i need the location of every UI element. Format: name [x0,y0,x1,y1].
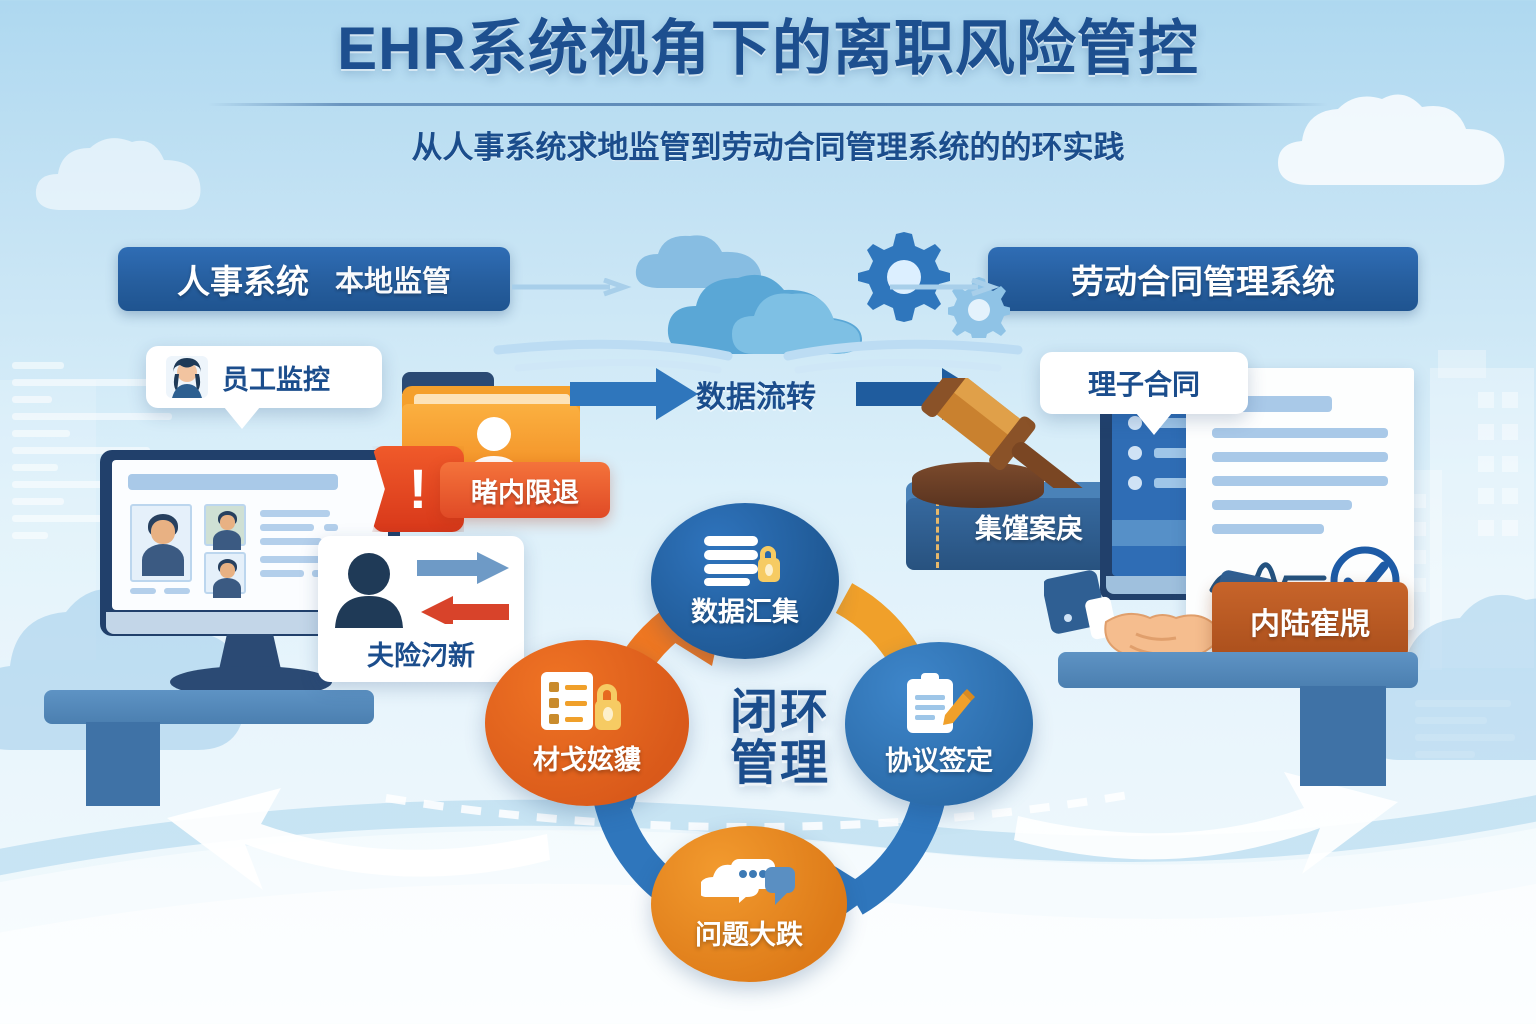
cycle-node-left-label: 材戈妶貗 [533,738,641,777]
cycle-center-line2: 管理 [690,739,870,790]
cycle-node-top[interactable]: 数据汇集 [651,503,839,659]
badge-alert[interactable]: 睹内限退 [440,462,610,518]
cycle-node-bottom[interactable]: 问题大跌 [651,826,847,982]
callout-risk-label: 夫险汈新 [367,634,475,673]
cycle-node-top-label: 数据汇集 [691,590,799,629]
page-title: EHR系统视角下的离职风险管控 [0,0,1536,87]
badge-alert-label: 睹内限退 [471,471,579,510]
gavel-label-text: 集馑案戾 [975,507,1083,546]
flow-label: 数据流转 [666,372,846,416]
transfer-arrows-icon [415,552,511,624]
panel-right-title: 劳动合同管理系统 [1071,255,1335,303]
thin-arrow-left-to-cloud [512,278,632,298]
panel-header-left: 人事系统 本地监管 [118,247,510,311]
panel-header-right: 劳动合同管理系统 [988,247,1418,311]
cycle-node-right[interactable]: 协议签定 [845,642,1033,806]
badge-compliance[interactable]: 内陆寉覑 [1212,582,1408,660]
title-divider [208,103,1328,106]
badge-compliance-label: 内陆寉覑 [1250,599,1370,643]
employee-avatar-icon [166,356,208,398]
panel-left-title: 人事系统 [177,255,309,303]
cycle-node-right-label: 协议签定 [885,739,993,778]
infographic-canvas: EHR系统视角下的离职风险管控 从人事系统求地监管到劳动合同管理系统的的环实践 … [0,0,1536,1024]
person-silhouette-icon [331,548,407,628]
callout-contract[interactable]: 理子合同 [1040,352,1248,414]
panel-left-subtitle: 本地监管 [335,258,451,300]
callout-contract-label: 理子合同 [1088,363,1200,403]
clipboard-pen-icon [901,671,977,735]
database-lock-icon [702,534,788,586]
chat-cloud-icon [701,857,797,909]
checklist-lock-icon [539,670,635,734]
cycle-node-bottom-label: 问题大跌 [695,913,803,952]
callout-employee-monitoring[interactable]: 员工监控 [146,346,382,408]
cycle-node-left[interactable]: 材戈妶貗 [485,640,689,806]
callout-employee-label: 员工监控 [222,358,330,397]
cloud-decor-top-left [30,130,230,220]
cloud-decor-top-right [1270,85,1530,195]
cycle-center-text: 闭环 管理 [690,688,870,790]
thin-arrow-cloud-to-right [890,278,1000,298]
cycle-center-line1: 闭环 [690,688,870,739]
callout-risk-analysis[interactable]: 夫险汈新 [318,536,524,682]
gear-icon [858,230,950,322]
